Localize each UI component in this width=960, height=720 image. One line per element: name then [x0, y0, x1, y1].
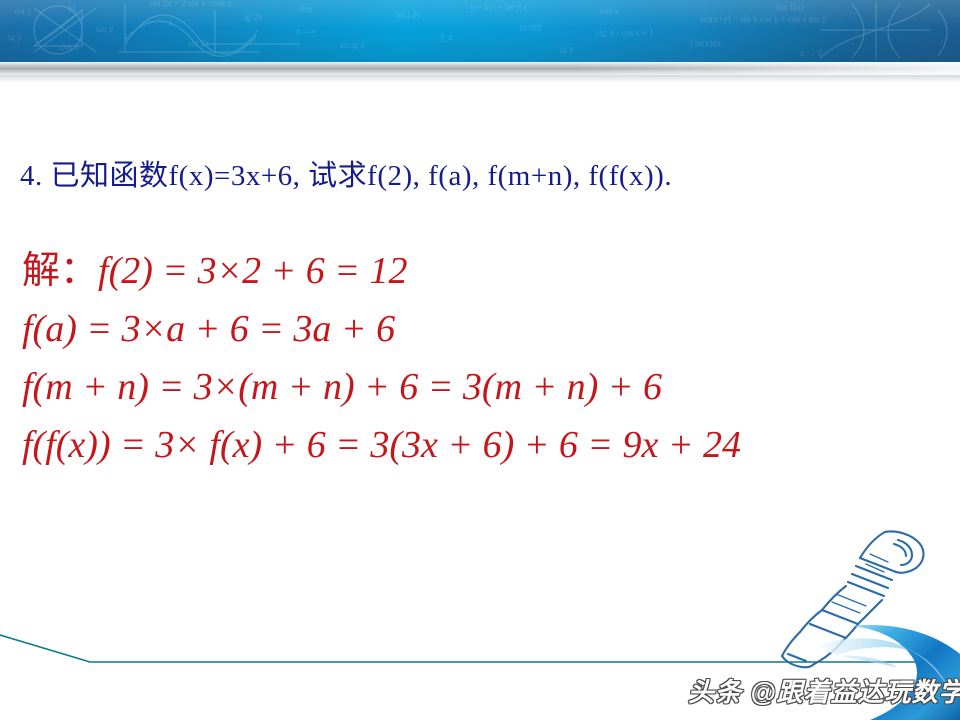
equation-1: f(2) = 3×2 + 6 = 12 [98, 250, 407, 292]
question-text: 4. 已知函数f(x)=3x+6, 试求f(2), f(a), f(m+n), … [20, 152, 672, 194]
svg-text:cot y: cot y [14, 6, 32, 16]
header-drop-shadow [0, 75, 960, 83]
svg-text:tg 2x: tg 2x [244, 12, 263, 22]
svg-text:∑ a: ∑ a [440, 32, 453, 42]
svg-text:x → 0: x → 0 [800, 48, 823, 58]
svg-text:cos x: cos x [600, 6, 619, 16]
watermark-text: 头条 @跟着益达玩数学 [688, 672, 960, 709]
svg-text:(a+b)ⁿ: (a+b)ⁿ [520, 22, 543, 32]
equation-2: f(a) = 3×a + 6 = 3a + 6 [22, 308, 395, 350]
svg-text:sin 2x: sin 2x [188, 38, 210, 48]
solution-line-3: f(m + n) = 3×(m + n) + 6 = 3(m + n) + 6 [22, 368, 942, 406]
header-math-decor-icon: cot y tg y M cos x sin y sin 2x = 2 sin … [0, 0, 960, 62]
solution-label: 解： [22, 250, 98, 292]
header-silver-bar [0, 62, 960, 75]
svg-text:sin(x+y) = sin x cos y + cos x: sin(x+y) = sin x cos y + cos x sin y [700, 14, 827, 24]
svg-text:ctg x · cos x ≠ 1: ctg x · cos x ≠ 1 [596, 28, 654, 38]
svg-text:n→∞: n→∞ [296, 26, 316, 36]
slide-canvas: cot y tg y M cos x sin y sin 2x = 2 sin … [0, 0, 960, 720]
svg-text:tg y: tg y [8, 32, 22, 42]
header-banner: cot y tg y M cos x sin y sin 2x = 2 sin … [0, 0, 960, 62]
equation-4: f(f(x)) = 3× f(x) + 6 = 3(3x + 6) + 6 = … [22, 424, 741, 466]
solution-line-2: f(a) = 3×a + 6 = 3a + 6 [22, 310, 942, 348]
svg-text:arctg x: arctg x [340, 40, 365, 50]
solution-line-4: f(f(x)) = 3× f(x) + 6 = 3(3x + 6) + 6 = … [22, 426, 942, 464]
svg-text:lg x: lg x [560, 44, 574, 54]
svg-text:∫ ln(x)dx: ∫ ln(x)dx [689, 38, 722, 49]
svg-text:y = ax² + bx + c: y = ax² + bx + c [470, 2, 527, 12]
svg-text:lim: lim [300, 4, 312, 14]
solution-block: 解：f(2) = 3×2 + 6 = 12 f(a) = 3×a + 6 = 3… [22, 252, 942, 464]
svg-text:sin 2x = 2 sin x · cos x: sin 2x = 2 sin x · cos x [150, 0, 232, 8]
solution-line-1: 解：f(2) = 3×2 + 6 = 12 [22, 252, 942, 290]
svg-text:M: M [68, 4, 76, 14]
svg-text:f(x) dx: f(x) dx [396, 10, 421, 20]
svg-text:lim f(x): lim f(x) [776, 2, 804, 12]
equation-3: f(m + n) = 3×(m + n) + 6 = 3(m + n) + 6 [22, 366, 662, 408]
svg-text:sin y: sin y [96, 24, 114, 34]
svg-text:1: 1 [168, 18, 173, 28]
svg-text:cos x: cos x [60, 42, 79, 52]
